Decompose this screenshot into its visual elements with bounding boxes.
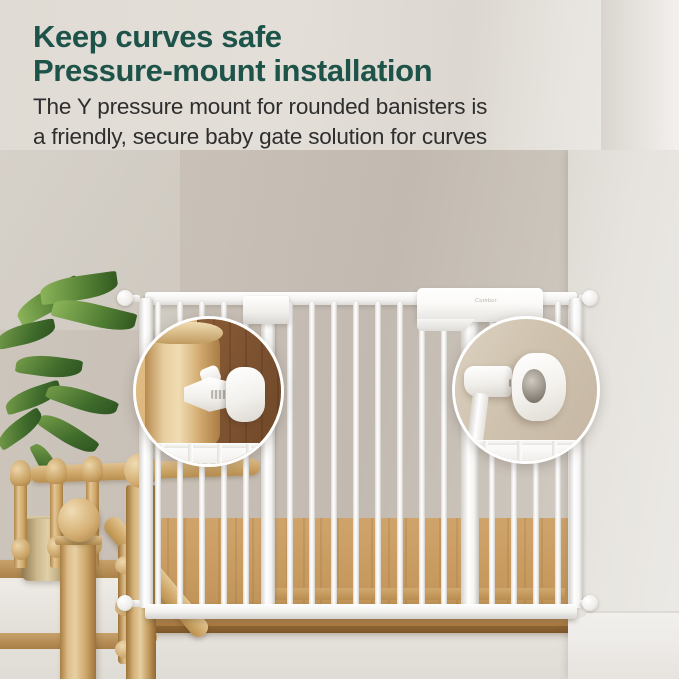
callout-gate-bar bbox=[159, 444, 164, 464]
product-image-canvas: Keep curves safe Pressure-mount installa… bbox=[0, 0, 679, 679]
plant-leaf bbox=[15, 352, 83, 382]
callout-gate-bar bbox=[580, 441, 585, 461]
product-photo-scene: Cumbor bbox=[0, 150, 679, 679]
brand-logo-text: Cumbor bbox=[475, 298, 497, 304]
right-wall-baseboard bbox=[568, 611, 679, 679]
gate-bar bbox=[397, 302, 403, 607]
callout-gate-rail bbox=[455, 440, 597, 445]
pressure-mount-bottom-left bbox=[117, 595, 133, 611]
callout-circle-wall-mount bbox=[452, 316, 600, 464]
gate-bar bbox=[287, 302, 293, 607]
callout-circle-banister-mount bbox=[133, 316, 284, 467]
subtitle-text: The Y pressure mount for rounded baniste… bbox=[33, 92, 613, 152]
newel-finial-front bbox=[58, 498, 100, 542]
pressure-mount-top-right bbox=[582, 290, 598, 306]
newel-post-front bbox=[60, 540, 96, 679]
callout-gate-bar bbox=[188, 444, 193, 464]
stair-tread-lower bbox=[0, 633, 118, 649]
gate-bar bbox=[353, 302, 359, 607]
page-title: Keep curves safe Pressure-mount installa… bbox=[33, 20, 633, 88]
baluster-cap bbox=[82, 456, 103, 482]
callout-gate-bar bbox=[217, 444, 222, 464]
baluster bbox=[14, 482, 27, 568]
pressure-mount-top-left bbox=[117, 290, 133, 306]
callout-gate-bar bbox=[246, 444, 251, 464]
gate-bottom-rail bbox=[145, 604, 577, 619]
plant-leaf bbox=[0, 318, 57, 350]
plant-leaf bbox=[45, 378, 119, 421]
callout-gate-bar bbox=[552, 441, 557, 461]
pressure-mount-bottom-right bbox=[582, 595, 598, 611]
baluster-cap bbox=[46, 458, 67, 484]
gate-bar bbox=[441, 302, 447, 607]
gate-bar bbox=[331, 302, 337, 607]
callout-gate-bar bbox=[483, 441, 488, 461]
baluster-cap bbox=[10, 460, 31, 486]
gate-mount-plate bbox=[226, 367, 265, 422]
gate-mount-arm bbox=[464, 366, 512, 397]
banister-post-ring bbox=[142, 322, 223, 344]
baluster-bulb bbox=[11, 538, 30, 560]
callout-gate-bar bbox=[517, 441, 522, 461]
gate-bar bbox=[309, 302, 315, 607]
wall-cup-socket bbox=[522, 369, 546, 403]
gate-bar bbox=[419, 302, 425, 607]
callout-gate-rail bbox=[136, 443, 281, 448]
gate-bar bbox=[375, 302, 381, 607]
